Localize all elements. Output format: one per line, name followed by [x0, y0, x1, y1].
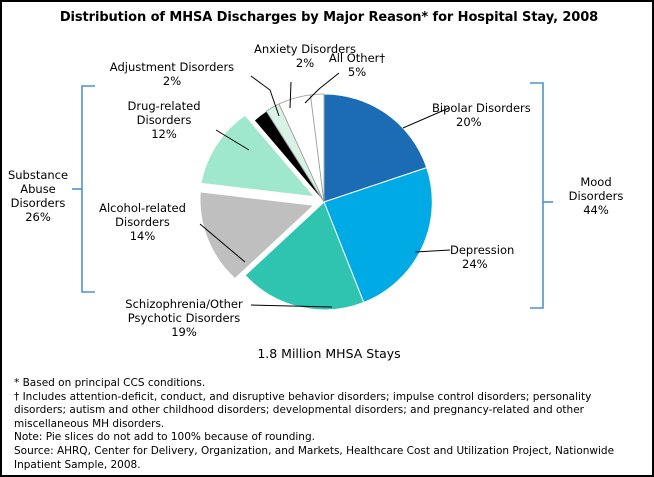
footnotes: * Based on principal CCS conditions. † I…: [14, 377, 646, 472]
label-adjustment-value: 2%: [97, 74, 247, 88]
label-alcohol-related-name-2: Disorders: [85, 215, 200, 229]
label-all-other: All Other† 5%: [302, 51, 412, 79]
total-stays-note: 1.8 Million MHSA Stays: [2, 346, 654, 361]
footnote-asterisk: * Based on principal CCS conditions.: [14, 377, 646, 391]
label-schizophrenia-value: 19%: [114, 325, 254, 339]
label-schizophrenia-name-2: Psychotic Disorders: [114, 311, 254, 325]
label-depression: Depression 24%: [450, 243, 540, 271]
label-depression-name: Depression: [450, 243, 540, 257]
label-all-other-value: 5%: [302, 65, 412, 79]
label-adjustment: Adjustment Disorders 2%: [97, 60, 247, 88]
label-alcohol-related: Alcohol-related Disorders 14%: [85, 201, 200, 243]
label-bipolar-name: Bipolar Disorders: [432, 101, 552, 115]
label-alcohol-related-name-1: Alcohol-related: [85, 201, 200, 215]
chart-figure: Distribution of MHSA Discharges by Major…: [0, 0, 654, 477]
bracket-substance-abuse: [82, 86, 95, 292]
label-substance-abuse-line-2: Abuse: [4, 182, 72, 196]
footnote-source: Source: AHRQ, Center for Delivery, Organ…: [14, 445, 646, 472]
footnote-dagger: † Includes attention-deficit, conduct, a…: [14, 391, 646, 432]
footnote-note: Note: Pie slices do not add to 100% beca…: [14, 431, 646, 445]
label-substance-abuse-line-3: Disorders: [4, 196, 72, 210]
label-adjustment-name: Adjustment Disorders: [97, 60, 247, 74]
label-substance-abuse-line-1: Substance: [4, 168, 72, 182]
label-depression-value: 24%: [450, 257, 540, 271]
label-schizophrenia-name-1: Schizophrenia/Other: [114, 297, 254, 311]
label-drug-related: Drug-related Disorders 12%: [109, 99, 219, 141]
label-bipolar: Bipolar Disorders 20%: [432, 101, 552, 129]
label-alcohol-related-value: 14%: [85, 229, 200, 243]
label-drug-related-name-2: Disorders: [109, 113, 219, 127]
label-mood-group: Mood Disorders 44%: [557, 175, 635, 217]
label-mood-line-2: Disorders: [557, 189, 635, 203]
label-schizophrenia: Schizophrenia/Other Psychotic Disorders …: [114, 297, 254, 339]
label-all-other-name: All Other†: [302, 51, 412, 65]
label-substance-abuse-value: 26%: [4, 210, 72, 224]
label-mood-value: 44%: [557, 203, 635, 217]
label-drug-related-name-1: Drug-related: [109, 99, 219, 113]
label-drug-related-value: 12%: [109, 127, 219, 141]
label-mood-line-1: Mood: [557, 175, 635, 189]
label-bipolar-value: 20%: [432, 115, 552, 129]
label-substance-abuse-group: Substance Abuse Disorders 26%: [4, 168, 72, 224]
